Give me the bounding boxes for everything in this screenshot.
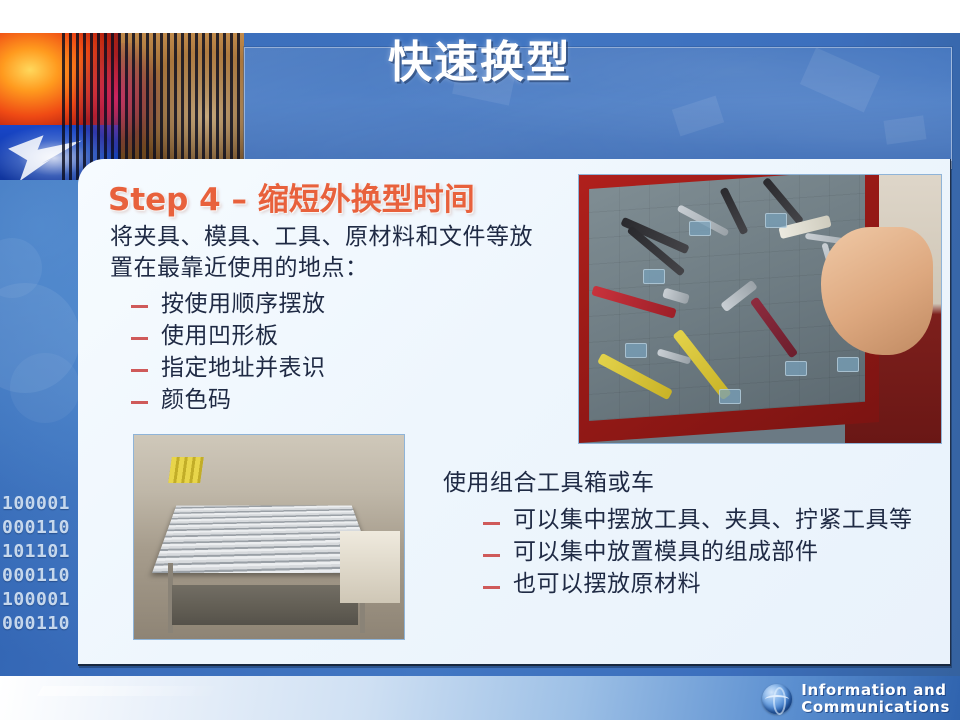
page-title: 快速换型 — [0, 26, 960, 90]
binary-line: 100001 — [2, 492, 76, 516]
binary-line: 101101 — [2, 540, 76, 564]
yellow-tool-handles — [168, 457, 204, 483]
binary-line: 000110 — [2, 564, 76, 588]
dash-bullet-icon — [131, 337, 148, 340]
binary-line: 000110 — [2, 516, 76, 540]
location-tag — [719, 389, 741, 404]
list-item: 按使用顺序摆放 — [131, 288, 326, 320]
step-heading: Step 4 – 缩短外换型时间 — [108, 174, 475, 219]
gear-decor-icon — [0, 283, 80, 393]
list-item-label: 使用凹形板 — [161, 320, 279, 352]
dash-bullet-icon — [131, 305, 148, 308]
left-bullet-list: 按使用顺序摆放 使用凹形板 指定地址并表识 颜色码 — [131, 288, 326, 416]
list-item: 也可以摆放原材料 — [483, 569, 943, 600]
brand-logo-text: Information and Communications — [801, 682, 950, 716]
cart-lower-shelf — [172, 585, 358, 625]
list-item: 颜色码 — [131, 384, 326, 416]
list-item-label: 可以集中摆放工具、夹具、拧紧工具等 — [513, 505, 913, 536]
dash-bullet-icon — [483, 586, 500, 589]
dash-bullet-icon — [131, 401, 148, 404]
binary-line: 100001 — [2, 588, 76, 612]
dash-bullet-icon — [131, 369, 148, 372]
location-tag — [625, 343, 647, 358]
footer-highlight — [37, 686, 223, 696]
dash-bullet-icon — [483, 554, 500, 557]
footer-bar: Information and Communications — [0, 676, 960, 720]
location-tag — [785, 361, 807, 376]
right-bullet-list: 可以集中摆放工具、夹具、拧紧工具等 可以集中放置模具的组成部件 也可以摆放原材料 — [483, 505, 943, 601]
list-item-label: 颜色码 — [161, 384, 232, 416]
logo-line-2: Communications — [801, 699, 950, 716]
location-tag — [837, 357, 859, 372]
lead-paragraph: 将夹具、模具、工具、原材料和文件等放置在最靠近使用的地点： — [110, 222, 535, 284]
logo-line-1: Information and — [801, 682, 950, 699]
dash-bullet-icon — [483, 522, 500, 525]
binary-line: 000110 — [2, 612, 76, 636]
gear-decor-icon — [0, 238, 42, 298]
list-item: 可以集中摆放工具、夹具、拧紧工具等 — [483, 505, 943, 536]
presentation-slide: 快速换型 100001 000110 101101 000110 100001 … — [0, 0, 960, 720]
list-item: 可以集中放置模具的组成部件 — [483, 537, 943, 568]
binary-decoration-text: 100001 000110 101101 000110 100001 00011… — [2, 492, 76, 636]
gear-decor-icon — [10, 353, 80, 423]
list-item: 指定地址并表识 — [131, 352, 326, 384]
background-equipment — [340, 531, 400, 603]
list-item-label: 可以集中放置模具的组成部件 — [513, 537, 819, 568]
list-item-label: 指定地址并表识 — [161, 352, 326, 384]
right-section-heading: 使用组合工具箱或车 — [443, 468, 655, 498]
brand-logo: Information and Communications — [762, 682, 950, 716]
tool-drawer-photo — [578, 174, 942, 444]
list-item-label: 按使用顺序摆放 — [161, 288, 326, 320]
location-tag — [765, 213, 787, 228]
tool-cart-photo — [133, 434, 405, 640]
location-tag — [689, 221, 711, 236]
location-tag — [643, 269, 665, 284]
globe-icon — [762, 684, 792, 714]
list-item: 使用凹形板 — [131, 320, 326, 352]
list-item-label: 也可以摆放原材料 — [513, 569, 701, 600]
